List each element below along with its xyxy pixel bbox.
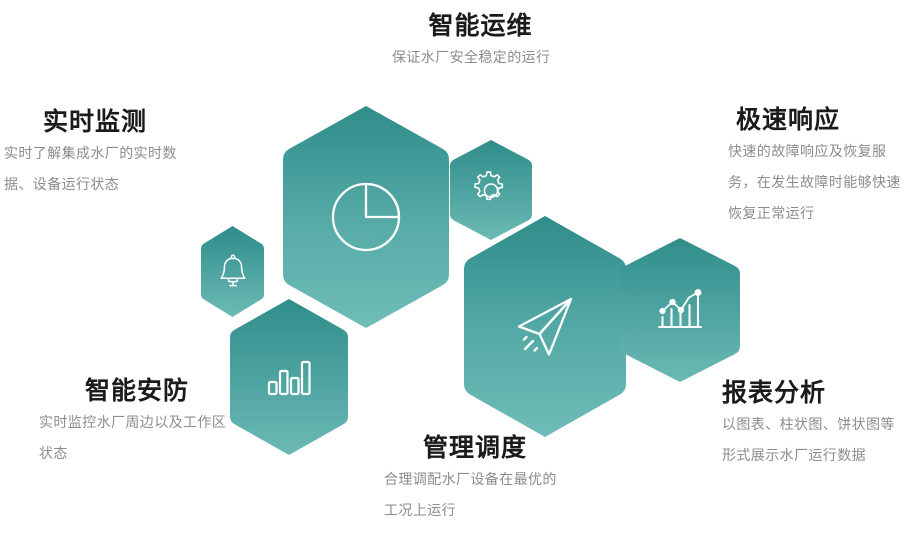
feature-block-response: 极速响应 快速的故障响应及恢复服务，在发生故障时能够快速恢复正常运行	[728, 104, 908, 229]
feature-description: 合理调配水厂设备在最优的工况上运行	[384, 464, 566, 526]
bell-icon	[217, 254, 249, 290]
infographic-canvas: 实时监测 实时了解集成水厂的实时数据、设备运行状态 智能运维 保证水厂安全稳定的…	[0, 0, 911, 553]
hexagon-trending-chart[interactable]	[618, 235, 742, 385]
feature-title: 管理调度	[375, 432, 575, 464]
hexagon-bar-chart[interactable]	[228, 296, 350, 458]
feature-title: 智能安防	[33, 375, 233, 407]
feature-description: 实时了解集成水厂的实时数据、设备运行状态	[4, 138, 200, 200]
feature-description: 保证水厂安全稳定的运行	[392, 42, 572, 73]
hexagon-paper-plane[interactable]	[461, 213, 629, 440]
feature-title: 报表分析	[722, 377, 908, 409]
feature-description: 以图表、柱状图、饼状图等形式展示水厂运行数据	[722, 409, 906, 471]
feature-description: 快速的故障响应及恢复服务，在发生故障时能够快速恢复正常运行	[728, 136, 904, 229]
feature-title: 智能运维	[378, 10, 583, 42]
feature-title: 实时监测	[4, 106, 204, 138]
feature-block-monitor: 实时监测 实时了解集成水厂的实时数据、设备运行状态	[4, 106, 204, 200]
feature-title: 极速响应	[728, 104, 908, 136]
gear-icon	[472, 171, 510, 209]
paper-plane-icon	[509, 291, 581, 363]
feature-block-ops: 智能运维 保证水厂安全稳定的运行	[378, 10, 583, 73]
bar-chart-icon	[266, 357, 312, 397]
feature-block-dispatch: 管理调度 合理调配水厂设备在最优的工况上运行	[375, 432, 575, 526]
pie-chart-icon	[329, 180, 403, 254]
feature-block-security: 智能安防 实时监控水厂周边以及工作区状态	[33, 375, 233, 469]
feature-block-report: 报表分析 以图表、柱状图、饼状图等形式展示水厂运行数据	[722, 377, 908, 471]
feature-description: 实时监控水厂周边以及工作区状态	[39, 407, 235, 469]
trending-chart-icon	[655, 287, 705, 333]
